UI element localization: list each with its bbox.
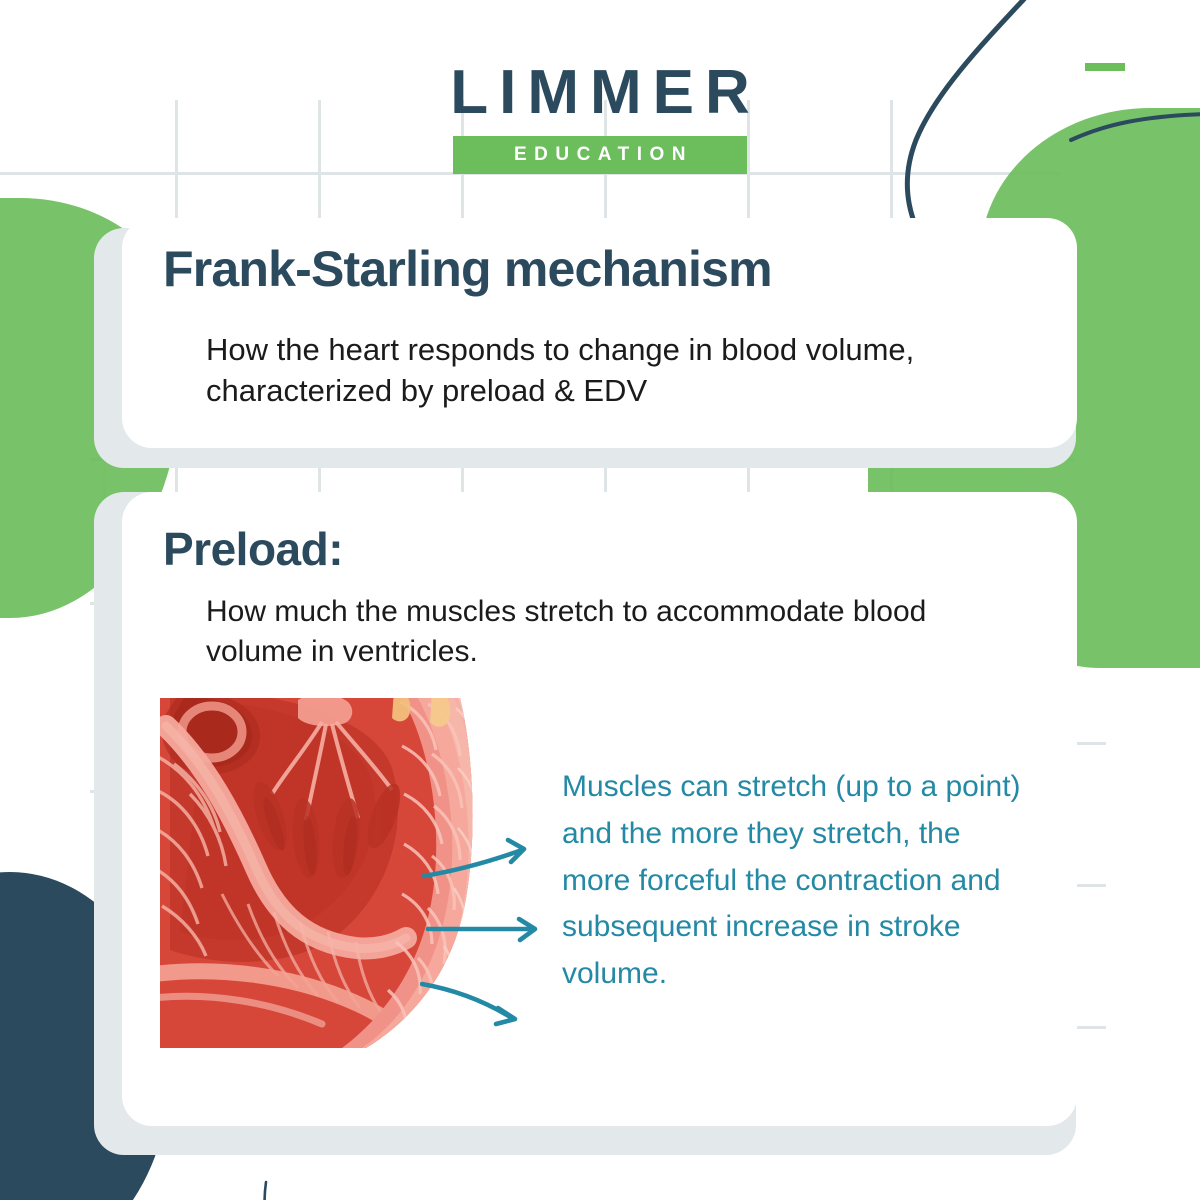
- heart-ventricle-cross-section: [160, 698, 490, 1048]
- preload-body: How much the muscles stretch to accommod…: [206, 592, 966, 672]
- preload-heading: Preload:: [163, 522, 343, 576]
- preload-callout: Muscles can stretch (up to a point) and …: [562, 764, 1032, 998]
- infographic-canvas: LIMMER EDUCATION Frank-Starling mechanis…: [0, 0, 1200, 1200]
- brand-logo[interactable]: LIMMER EDUCATION: [0, 62, 1200, 174]
- page-title: Frank-Starling mechanism: [163, 240, 772, 298]
- brand-tagline-band: EDUCATION: [453, 136, 747, 174]
- page-subtitle: How the heart responds to change in bloo…: [206, 330, 996, 412]
- green-accent-bar-icon: [1085, 63, 1125, 71]
- brand-wordmark: LIMMER: [439, 62, 761, 124]
- brand-tagline: EDUCATION: [507, 144, 693, 166]
